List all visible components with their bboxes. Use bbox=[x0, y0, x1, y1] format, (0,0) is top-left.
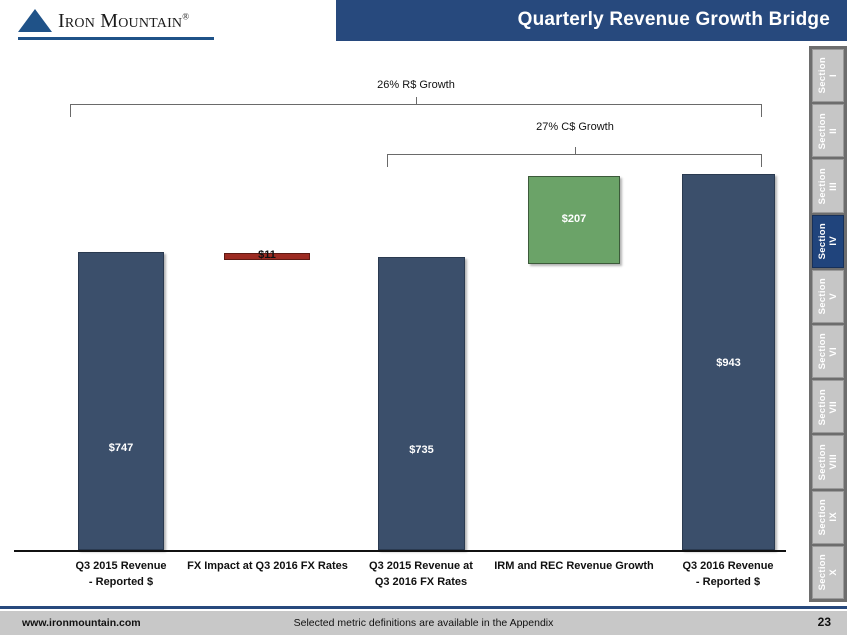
section-tab-label: Section bbox=[818, 57, 828, 93]
logo-wordmark-text: Iron Mountain bbox=[58, 10, 182, 32]
bracket-rs-growth-left-tick bbox=[70, 104, 71, 117]
category-label-line-1: Q3 2015 Revenue at bbox=[346, 558, 496, 574]
registered-mark-icon: ® bbox=[182, 11, 189, 21]
section-tab-label: Section bbox=[818, 333, 828, 369]
category-label-line-2: Q3 2016 FX Rates bbox=[346, 574, 496, 590]
section-tab-rail: SectionISectionIISectionIIISectionIVSect… bbox=[809, 46, 847, 602]
category-label-irm-rec-growth: IRM and REC Revenue Growth bbox=[483, 558, 665, 574]
bar-value-fx-impact: $11 bbox=[224, 249, 310, 261]
annotation-cs-growth: 27% C$ Growth bbox=[495, 121, 655, 133]
bar-q3-2015-reported[interactable] bbox=[78, 252, 164, 550]
section-tab-i[interactable]: SectionI bbox=[812, 49, 844, 102]
company-logo: Iron Mountain® bbox=[18, 9, 189, 32]
category-label-line-2: - Reported $ bbox=[46, 574, 196, 590]
section-tab-x[interactable]: SectionX bbox=[812, 546, 844, 599]
section-tab-label: Section bbox=[818, 113, 828, 149]
chart-axis-line bbox=[14, 550, 786, 552]
bar-value-q3-2015-reported: $747 bbox=[78, 442, 164, 454]
section-tab-label: Section bbox=[818, 444, 828, 480]
section-tab-vii[interactable]: SectionVII bbox=[812, 380, 844, 433]
category-label-line-1: IRM and REC Revenue Growth bbox=[483, 558, 665, 574]
section-tab-numeral: VI bbox=[829, 347, 839, 357]
bar-value-irm-rec-growth: $207 bbox=[528, 213, 620, 225]
section-tab-numeral: VIII bbox=[829, 454, 839, 469]
section-tab-numeral: I bbox=[829, 74, 839, 77]
section-tab-numeral: VII bbox=[829, 401, 839, 414]
section-tab-numeral: X bbox=[829, 569, 839, 576]
bracket-cs-growth-center-tick bbox=[575, 147, 576, 155]
section-tab-numeral: IV bbox=[829, 236, 839, 246]
section-tab-ix[interactable]: SectionIX bbox=[812, 491, 844, 544]
bar-value-q3-2015-at-2016-fx: $735 bbox=[378, 444, 465, 456]
bracket-cs-growth-right-tick bbox=[761, 154, 762, 167]
section-tab-label: Section bbox=[818, 278, 828, 314]
footer-note: Selected metric definitions are availabl… bbox=[0, 617, 847, 629]
annotation-rs-growth: 26% R$ Growth bbox=[336, 79, 496, 91]
section-tab-numeral: III bbox=[829, 182, 839, 191]
section-tab-numeral: IX bbox=[829, 512, 839, 522]
section-tab-label: Section bbox=[818, 168, 828, 204]
category-label-line-1: Q3 2015 Revenue bbox=[46, 558, 196, 574]
page-title: Quarterly Revenue Growth Bridge bbox=[518, 9, 830, 31]
section-tab-label: Section bbox=[818, 499, 828, 535]
section-tab-iv[interactable]: SectionIV bbox=[812, 215, 844, 268]
bracket-rs-growth-right-tick bbox=[761, 104, 762, 117]
section-tab-v[interactable]: SectionV bbox=[812, 270, 844, 323]
bar-q3-2015-at-2016-fx[interactable] bbox=[378, 257, 465, 550]
section-tab-ii[interactable]: SectionII bbox=[812, 104, 844, 157]
bar-value-q3-2016-reported: $943 bbox=[682, 357, 775, 369]
section-tab-vi[interactable]: SectionVI bbox=[812, 325, 844, 378]
category-label-fx-impact: FX Impact at Q3 2016 FX Rates bbox=[180, 558, 355, 574]
category-label-line-1: Q3 2016 Revenue bbox=[653, 558, 803, 574]
category-label-q3-2015-reported: Q3 2015 Revenue - Reported $ bbox=[46, 558, 196, 590]
category-label-line-2: - Reported $ bbox=[653, 574, 803, 590]
category-label-q3-2016-reported: Q3 2016 Revenue - Reported $ bbox=[653, 558, 803, 590]
section-tab-label: Section bbox=[818, 389, 828, 425]
logo-wordmark: Iron Mountain® bbox=[58, 10, 189, 33]
section-tab-label: Section bbox=[818, 223, 828, 259]
footer-divider-rule bbox=[0, 606, 847, 609]
bracket-cs-growth-left-tick bbox=[387, 154, 388, 167]
chart-plot-area: 26% R$ Growth 27% C$ Growth $747 $11 $73… bbox=[0, 46, 795, 602]
footer-page-number: 23 bbox=[818, 615, 831, 629]
triangle-logo-icon bbox=[18, 9, 52, 32]
slide-canvas: Iron Mountain® Quarterly Revenue Growth … bbox=[0, 0, 847, 635]
section-tab-iii[interactable]: SectionIII bbox=[812, 159, 844, 212]
bracket-rs-growth-center-tick bbox=[416, 97, 417, 105]
section-tab-numeral: V bbox=[829, 293, 839, 300]
section-tab-viii[interactable]: SectionVIII bbox=[812, 435, 844, 488]
logo-underline-rule bbox=[18, 37, 214, 40]
section-tab-numeral: II bbox=[829, 128, 839, 134]
logo-plate: Iron Mountain® bbox=[0, 0, 336, 41]
category-label-q3-2015-at-2016-fx: Q3 2015 Revenue at Q3 2016 FX Rates bbox=[346, 558, 496, 590]
section-tab-label: Section bbox=[818, 554, 828, 590]
category-label-line-1: FX Impact at Q3 2016 FX Rates bbox=[180, 558, 355, 574]
